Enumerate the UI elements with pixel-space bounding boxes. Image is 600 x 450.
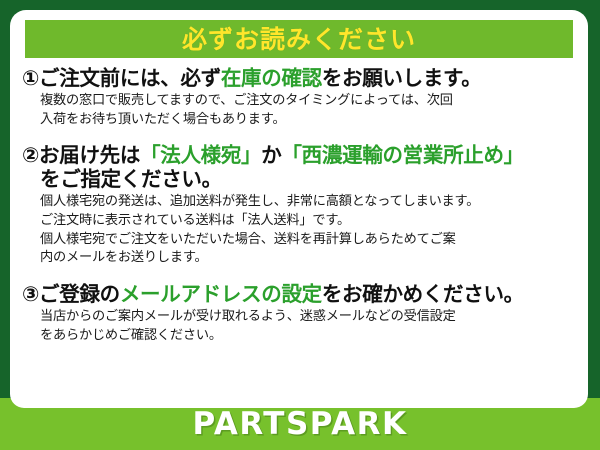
notice-item-1-body-line-1: 複数の窓口で販売してますので、ご注文のタイミングによっては、次回 [40,92,578,111]
notice-item-2-body-line-3: 個人様宅宛でご注文をいただいた場合、送料を再計算しあらためてご案 [40,231,578,250]
notice-item-3-body-line-2: をあらかじめご確認ください。 [40,327,578,346]
notice-items-list: ①ご注文前には、必ず在庫の確認をお願いします。 複数の窓口で販売してますので、ご… [10,64,588,346]
notice-item-1-heading-part-3: をお願いします。 [322,66,482,90]
notice-item-1: ①ご注文前には、必ず在庫の確認をお願いします。 複数の窓口で販売してますので、ご… [10,66,588,130]
notice-item-3: ③ご登録のメールアドレスの設定をお確かめください。 当店からのご案内メールが受け… [10,282,588,346]
notice-card: 必ずお読みください ①ご注文前には、必ず在庫の確認をお願いします。 複数の窓口で… [10,10,588,408]
notice-item-2-body-line-4: 内のメールをお送りします。 [40,249,578,268]
footer-logo-area: PARTSPARK [0,398,600,450]
notice-item-3-heading-part-3: をお確かめください。 [322,282,524,306]
notice-item-2-body-line-2: ご注文時に表示されている送料は「法人送料」です。 [40,212,578,231]
notice-item-3-heading-part-1: ③ご登録の [22,282,120,306]
notice-item-1-body-line-2: 入荷をお待ち頂いただく場合もあります。 [40,111,578,130]
notice-item-3-heading: ③ご登録のメールアドレスの設定をお確かめください。 [22,282,578,306]
notice-item-2-highlight-seino: 「西濃運輸の営業所止め」 [281,143,523,167]
notice-item-3-body-line-1: 当店からのご案内メールが受け取れるよう、迷惑メールなどの受信設定 [40,308,578,327]
page-title: 必ずお読みください [182,27,416,52]
notice-item-1-heading-part-1: ①ご注文前には、必ず [22,66,221,90]
notice-item-2-heading-part-3: か [261,143,281,167]
notice-item-2-body: 個人様宅宛の発送は、追加送料が発生し、非常に高額となってしまいます。 ご注文時に… [40,193,578,268]
notice-item-3-body: 当店からのご案内メールが受け取れるよう、迷惑メールなどの受信設定 をあらかじめご… [40,308,578,345]
notice-item-1-body: 複数の窓口で販売してますので、ご注文のタイミングによっては、次回 入荷をお待ち頂… [40,92,578,129]
notice-item-2-body-line-1: 個人様宅宛の発送は、追加送料が発生し、非常に高額となってしまいます。 [40,193,578,212]
header-banner: 必ずお読みください [25,20,573,58]
notice-item-2-heading-line-2: をご指定ください。 [40,167,578,191]
notice-item-2-heading: ②お届け先は「法人様宛」か「西濃運輸の営業所止め」 [22,143,578,167]
notice-item-2-highlight-corporate: 「法人様宛」 [140,143,261,167]
notice-item-1-highlight: 在庫の確認 [221,66,322,90]
notice-item-2-heading-part-1: ②お届け先は [22,143,140,167]
partspark-logo: PARTSPARK [192,409,407,440]
notice-frame: 必ずお読みください ①ご注文前には、必ず在庫の確認をお願いします。 複数の窓口で… [0,0,600,450]
notice-item-1-heading: ①ご注文前には、必ず在庫の確認をお願いします。 [22,66,578,90]
notice-item-2: ②お届け先は「法人様宛」か「西濃運輸の営業所止め」 をご指定ください。 個人様宅… [10,143,588,268]
notice-item-3-highlight: メールアドレスの設定 [120,282,322,306]
